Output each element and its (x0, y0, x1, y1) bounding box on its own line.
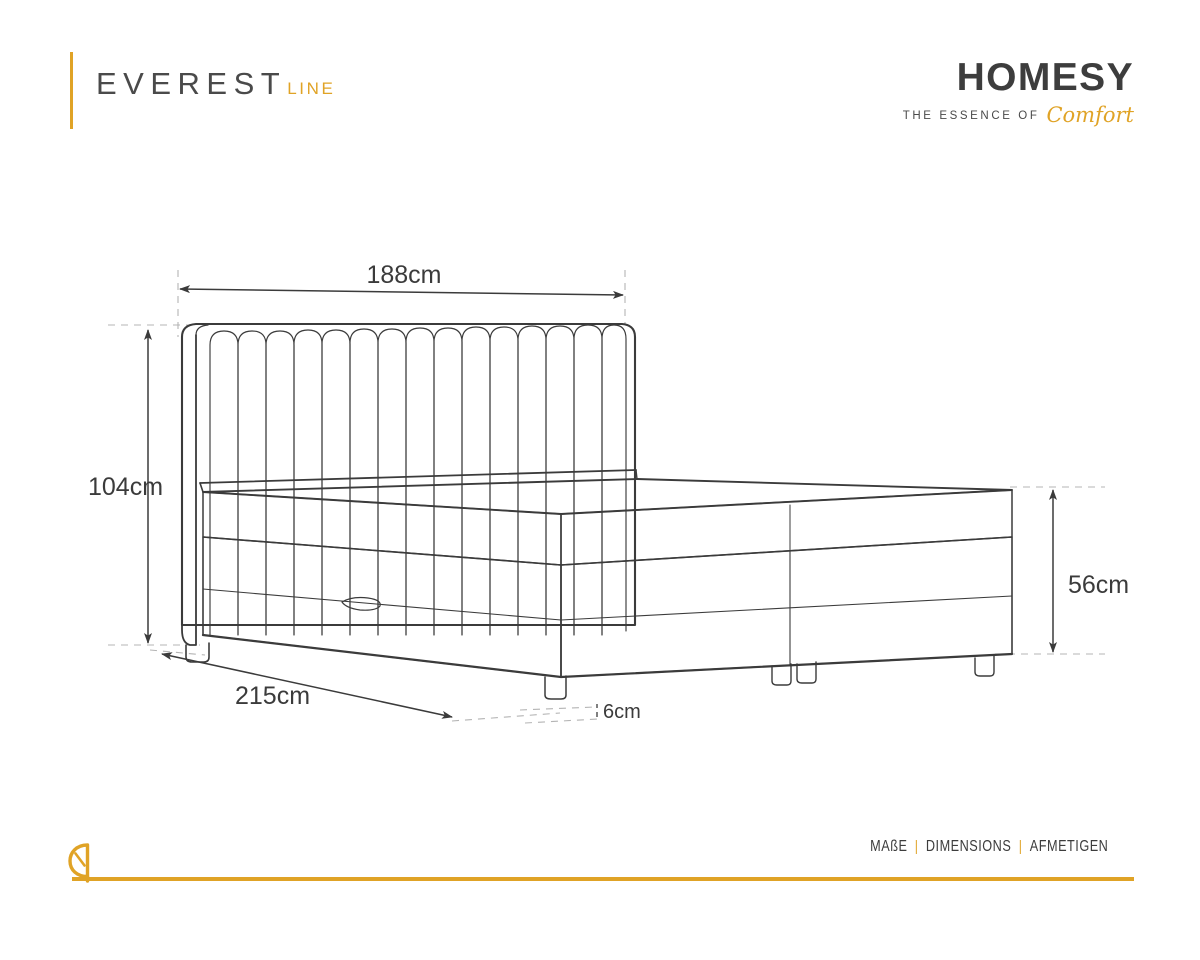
dimension-label-total-height: 104cm (88, 473, 163, 501)
base-bottom-edge (203, 635, 1012, 677)
brand-name: EVEREST (96, 66, 286, 102)
page-header: EVEREST LINE HOMESY THE ESSENCE OF Comfo… (0, 0, 1200, 175)
logo-tagline-row: THE ESSENCE OF Comfort (903, 104, 1134, 122)
footer-label-en: DIMENSIONS (925, 838, 1010, 856)
dimension-label-leg-height: 6cm (603, 701, 641, 723)
dimension-label-base-height: 56cm (1068, 571, 1129, 599)
logo-script-word: Comfort (1046, 107, 1134, 124)
page-footer: MAßE | DIMENSIONS | AFMETIGEN (0, 830, 1200, 960)
bed-illustration (182, 324, 1012, 699)
brand-accent-bar (70, 52, 73, 129)
dimension-line-width (180, 289, 623, 295)
brand-line-suffix: LINE (287, 79, 335, 99)
base-right-face (561, 537, 1012, 677)
page-root: EVEREST LINE HOMESY THE ESSENCE OF Comfo… (0, 0, 1200, 960)
headboard-side-panel (182, 335, 196, 645)
technical-drawing-area: 188cm 104cm 56cm 215cm 6cm (0, 165, 1200, 785)
bed-dimension-drawing: 188cm 104cm 56cm 215cm 6cm (0, 165, 1200, 785)
footer-label-nl: AFMETIGEN (1029, 838, 1108, 856)
mattress-right-face (561, 490, 1012, 565)
footer-divider-rule (72, 877, 1134, 881)
base-seam-right (561, 596, 1012, 620)
leg-right (975, 655, 994, 676)
dimension-guide-lines (108, 270, 1105, 723)
logo-tagline: THE ESSENCE OF (903, 110, 1040, 122)
footer-dimension-labels: MAßE | DIMENSIONS | AFMETIGEN (870, 838, 1108, 856)
dimension-lines (148, 289, 1053, 717)
footer-separator-2: | (1018, 838, 1022, 855)
leg-front-center (545, 676, 566, 699)
headboard-outline (182, 324, 635, 625)
logo-wordmark: HOMESY (903, 58, 1134, 97)
headboard-foot-left (186, 643, 209, 662)
company-logo: HOMESY THE ESSENCE OF Comfort (903, 58, 1134, 122)
footer-separator-1: | (914, 838, 918, 855)
mattress-front-face (203, 492, 561, 565)
brand-lockup: EVEREST LINE (96, 66, 335, 102)
dimension-label-length: 215cm (235, 682, 310, 710)
base-seam-left (203, 589, 561, 620)
footer-label-de: MAßE (870, 838, 907, 856)
dimension-label-width: 188cm (366, 261, 441, 289)
